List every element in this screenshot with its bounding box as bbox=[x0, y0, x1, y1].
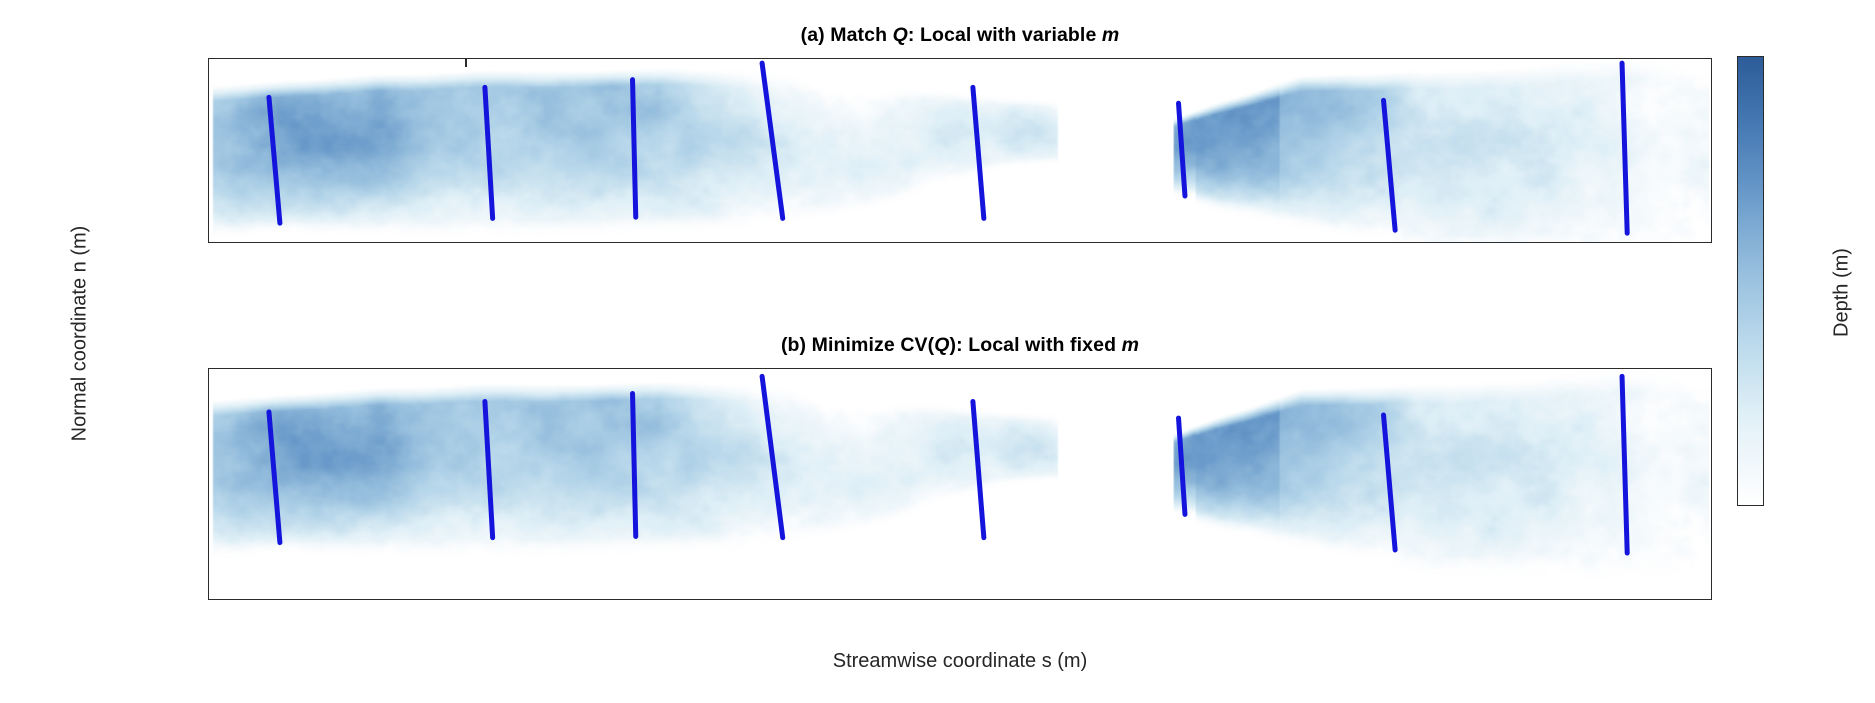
transect-line bbox=[1179, 103, 1185, 196]
y-axis-label: Normal coordinate n (m) bbox=[69, 184, 92, 484]
panel-a-title-symbol-m: m bbox=[1102, 24, 1119, 46]
panel-b-title-prefix: (b) Minimize CV( bbox=[781, 334, 934, 356]
colorbar-gradient bbox=[1738, 57, 1763, 505]
panel-a-transect-overlay bbox=[209, 59, 1711, 242]
panel-b-title-mid: ): Local with fixed bbox=[950, 334, 1122, 356]
transect-line bbox=[269, 412, 280, 543]
panel-a-axes bbox=[208, 58, 1712, 243]
colorbar bbox=[1737, 56, 1764, 506]
transect-line bbox=[1179, 418, 1185, 514]
transect-line bbox=[973, 87, 984, 218]
transect-line bbox=[485, 402, 493, 538]
transect-line bbox=[1384, 415, 1396, 550]
panel-a-title-mid: : Local with variable bbox=[908, 24, 1102, 46]
figure-root: (a) Match Q: Local with variable m (b) M… bbox=[0, 0, 1875, 703]
transect-line bbox=[1622, 63, 1627, 233]
panel-a-title-prefix: (a) Match bbox=[801, 24, 893, 46]
transect-line bbox=[762, 63, 783, 218]
x-axis-label: Streamwise coordinate s (m) bbox=[208, 650, 1712, 673]
tick-mark bbox=[465, 58, 466, 67]
transect-line bbox=[1384, 100, 1396, 230]
panel-a-title: (a) Match Q: Local with variable m bbox=[208, 24, 1712, 47]
panel-b-title-symbol-q: Q bbox=[934, 334, 949, 356]
transect-line bbox=[633, 80, 636, 218]
transect-line bbox=[762, 376, 783, 537]
panel-b-transect-overlay bbox=[209, 369, 1711, 599]
colorbar-title: Depth (m) bbox=[1831, 173, 1854, 413]
panel-b-title-symbol-m: m bbox=[1122, 334, 1139, 356]
panel-a-title-symbol-q: Q bbox=[893, 24, 908, 46]
panel-b-title: (b) Minimize CV(Q): Local with fixed m bbox=[208, 334, 1712, 357]
transect-line bbox=[973, 402, 984, 538]
transect-line bbox=[1622, 376, 1627, 553]
transect-line bbox=[633, 394, 636, 537]
panel-b-axes bbox=[208, 368, 1712, 600]
transect-line bbox=[485, 87, 493, 218]
transect-line bbox=[269, 97, 280, 223]
